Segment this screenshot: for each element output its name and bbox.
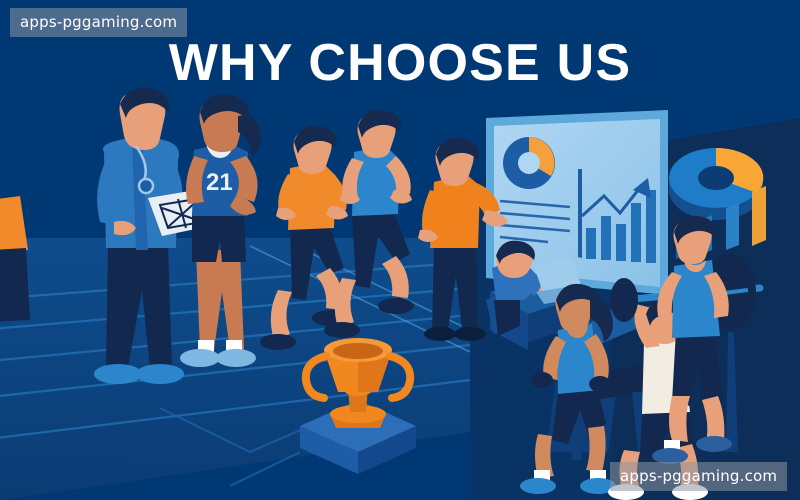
page-title: WHY CHOOSE US <box>0 33 800 93</box>
whistle-icon <box>139 179 153 193</box>
background-donut-chart <box>669 148 763 220</box>
watermark-bottom-right: apps-pggaming.com <box>610 462 787 491</box>
watermark-top-left: apps-pggaming.com <box>10 8 187 37</box>
jersey-number: 21 <box>206 169 233 196</box>
poster-container: 21 <box>0 0 800 500</box>
monitor-donut-chart <box>503 137 555 189</box>
